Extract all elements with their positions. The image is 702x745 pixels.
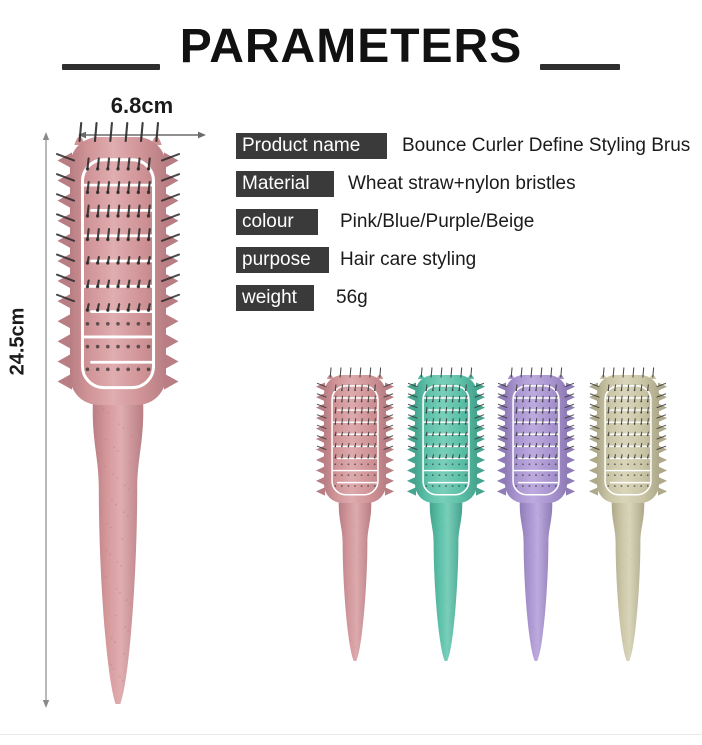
- table-row: Material Wheat straw+nylon bristles: [236, 169, 702, 207]
- height-dimension-arrow: [41, 132, 51, 708]
- table-row: Product name Bounce Curler Define Stylin…: [236, 131, 702, 169]
- variant-photo-pink-brush: [313, 373, 397, 663]
- spec-value: Wheat straw+nylon bristles: [348, 171, 576, 197]
- spec-label: Product name: [236, 133, 387, 159]
- variant-photo-purple-brush: [494, 373, 578, 663]
- spec-value: Hair care styling: [340, 247, 476, 273]
- title-dash-right: [540, 64, 620, 70]
- spec-label: Material: [236, 171, 334, 197]
- spec-label: purpose: [236, 247, 329, 273]
- main-product-photo-pink-brush: [58, 133, 178, 708]
- spec-value: Bounce Curler Define Styling Brus: [402, 133, 690, 159]
- title-banner: PARAMETERS: [0, 18, 702, 80]
- spec-value: Pink/Blue/Purple/Beige: [340, 209, 534, 235]
- variant-photo-blue-brush: [404, 373, 488, 663]
- spec-table: Product name Bounce Curler Define Stylin…: [236, 131, 702, 321]
- table-row: colour Pink/Blue/Purple/Beige: [236, 207, 702, 245]
- variant-photo-beige-brush: [586, 373, 670, 663]
- spec-label: colour: [236, 209, 318, 235]
- spec-label: weight: [236, 285, 314, 311]
- width-dimension-label: 6.8cm: [72, 93, 212, 119]
- bottom-divider: [0, 734, 702, 735]
- table-row: weight 56g: [236, 283, 702, 321]
- spec-value: 56g: [336, 285, 368, 311]
- table-row: purpose Hair care styling: [236, 245, 702, 283]
- product-parameters-image: PARAMETERS 6.8cm 24.5cm Product name Bou…: [0, 0, 702, 745]
- height-dimension-label: 24.5cm: [7, 302, 30, 382]
